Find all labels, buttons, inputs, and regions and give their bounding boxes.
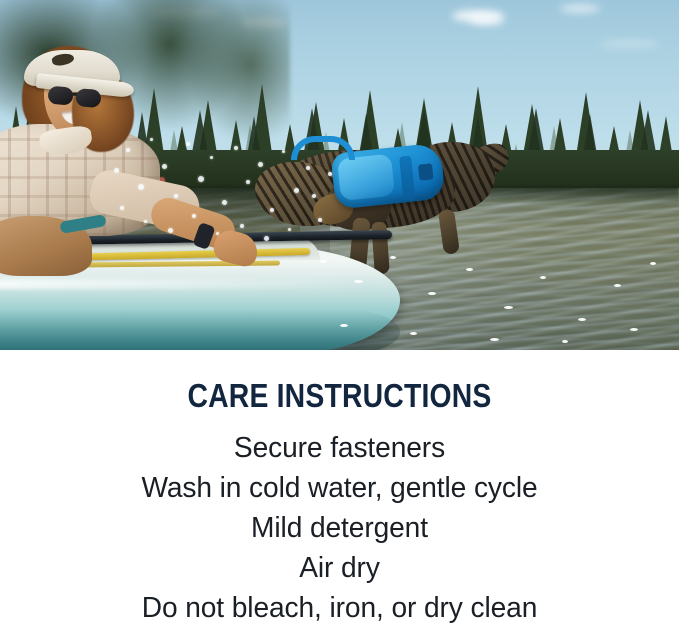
care-instructions-list: Secure fasteners Wash in cold water, gen… xyxy=(0,428,679,628)
care-instructions-page: CARE INSTRUCTIONS Secure fasteners Wash … xyxy=(0,0,679,636)
care-instructions-title: CARE INSTRUCTIONS xyxy=(48,350,632,412)
care-instruction-item: Air dry xyxy=(10,548,669,588)
dog-hind-leg xyxy=(438,209,460,255)
life-jacket-strap xyxy=(399,155,416,200)
care-instruction-item: Mild detergent xyxy=(10,508,669,548)
water-sparkles xyxy=(300,250,679,346)
life-jacket-buckle xyxy=(418,163,434,180)
care-instruction-item: Wash in cold water, gentle cycle xyxy=(10,468,669,508)
sunglass-lens xyxy=(47,86,73,106)
life-jacket-panel xyxy=(337,154,395,201)
lifestyle-photo xyxy=(0,0,679,350)
care-instruction-item: Secure fasteners xyxy=(10,428,669,468)
care-instructions-block: CARE INSTRUCTIONS Secure fasteners Wash … xyxy=(0,350,679,636)
sunglass-lens xyxy=(75,88,101,108)
cloud xyxy=(470,16,504,25)
water-spray xyxy=(110,128,340,248)
care-instruction-item: Do not bleach, iron, or dry clean xyxy=(10,588,669,628)
cloud xyxy=(600,40,660,48)
cloud xyxy=(560,4,600,13)
